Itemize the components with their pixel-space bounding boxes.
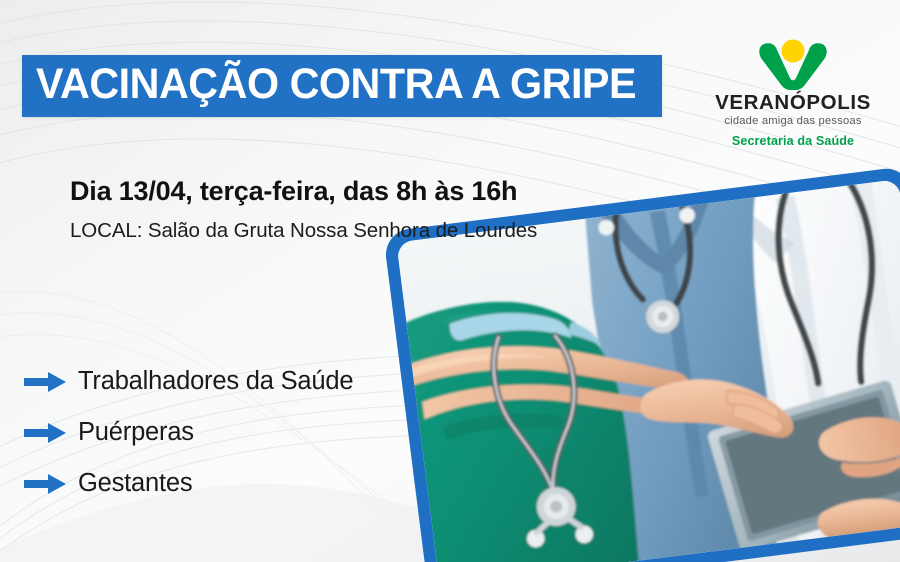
audience-label: Puérperas <box>78 420 194 446</box>
page-title: VACINAÇÃO CONTRA A GRIPE <box>36 63 636 106</box>
list-item: Trabalhadores da Saúde <box>24 356 424 407</box>
event-location-line: LOCAL: Salão da Gruta Nossa Senhora de L… <box>70 219 670 244</box>
person-raising-arms-icon <box>757 38 829 90</box>
event-date-line: Dia 13/04, terça-feira, das 8h às 16h <box>70 176 670 208</box>
flu-vaccination-poster: VACINAÇÃO CONTRA A GRIPE VERANÓPOLIS cid… <box>0 0 900 562</box>
event-info-block: Dia 13/04, terça-feira, das 8h às 16h LO… <box>70 176 670 243</box>
veranopolis-logo: VERANÓPOLIS cidade amiga das pessoas Sec… <box>708 38 878 148</box>
arrow-right-icon <box>24 371 66 393</box>
poster-title-banner: VACINAÇÃO CONTRA A GRIPE <box>22 55 662 117</box>
audience-label: Trabalhadores da Saúde <box>78 369 353 395</box>
audience-label: Gestantes <box>78 471 192 497</box>
logo-city-name: VERANÓPOLIS <box>708 92 878 114</box>
list-item: Puérperas <box>24 407 424 458</box>
logo-department: Secretaria da Saúde <box>708 134 878 148</box>
list-item: Gestantes <box>24 458 424 509</box>
logo-tagline: cidade amiga das pessoas <box>708 115 878 127</box>
target-audience-list: Trabalhadores da Saúde Puérperas Gestant… <box>24 356 424 509</box>
arrow-right-icon <box>24 473 66 495</box>
arrow-right-icon <box>24 422 66 444</box>
